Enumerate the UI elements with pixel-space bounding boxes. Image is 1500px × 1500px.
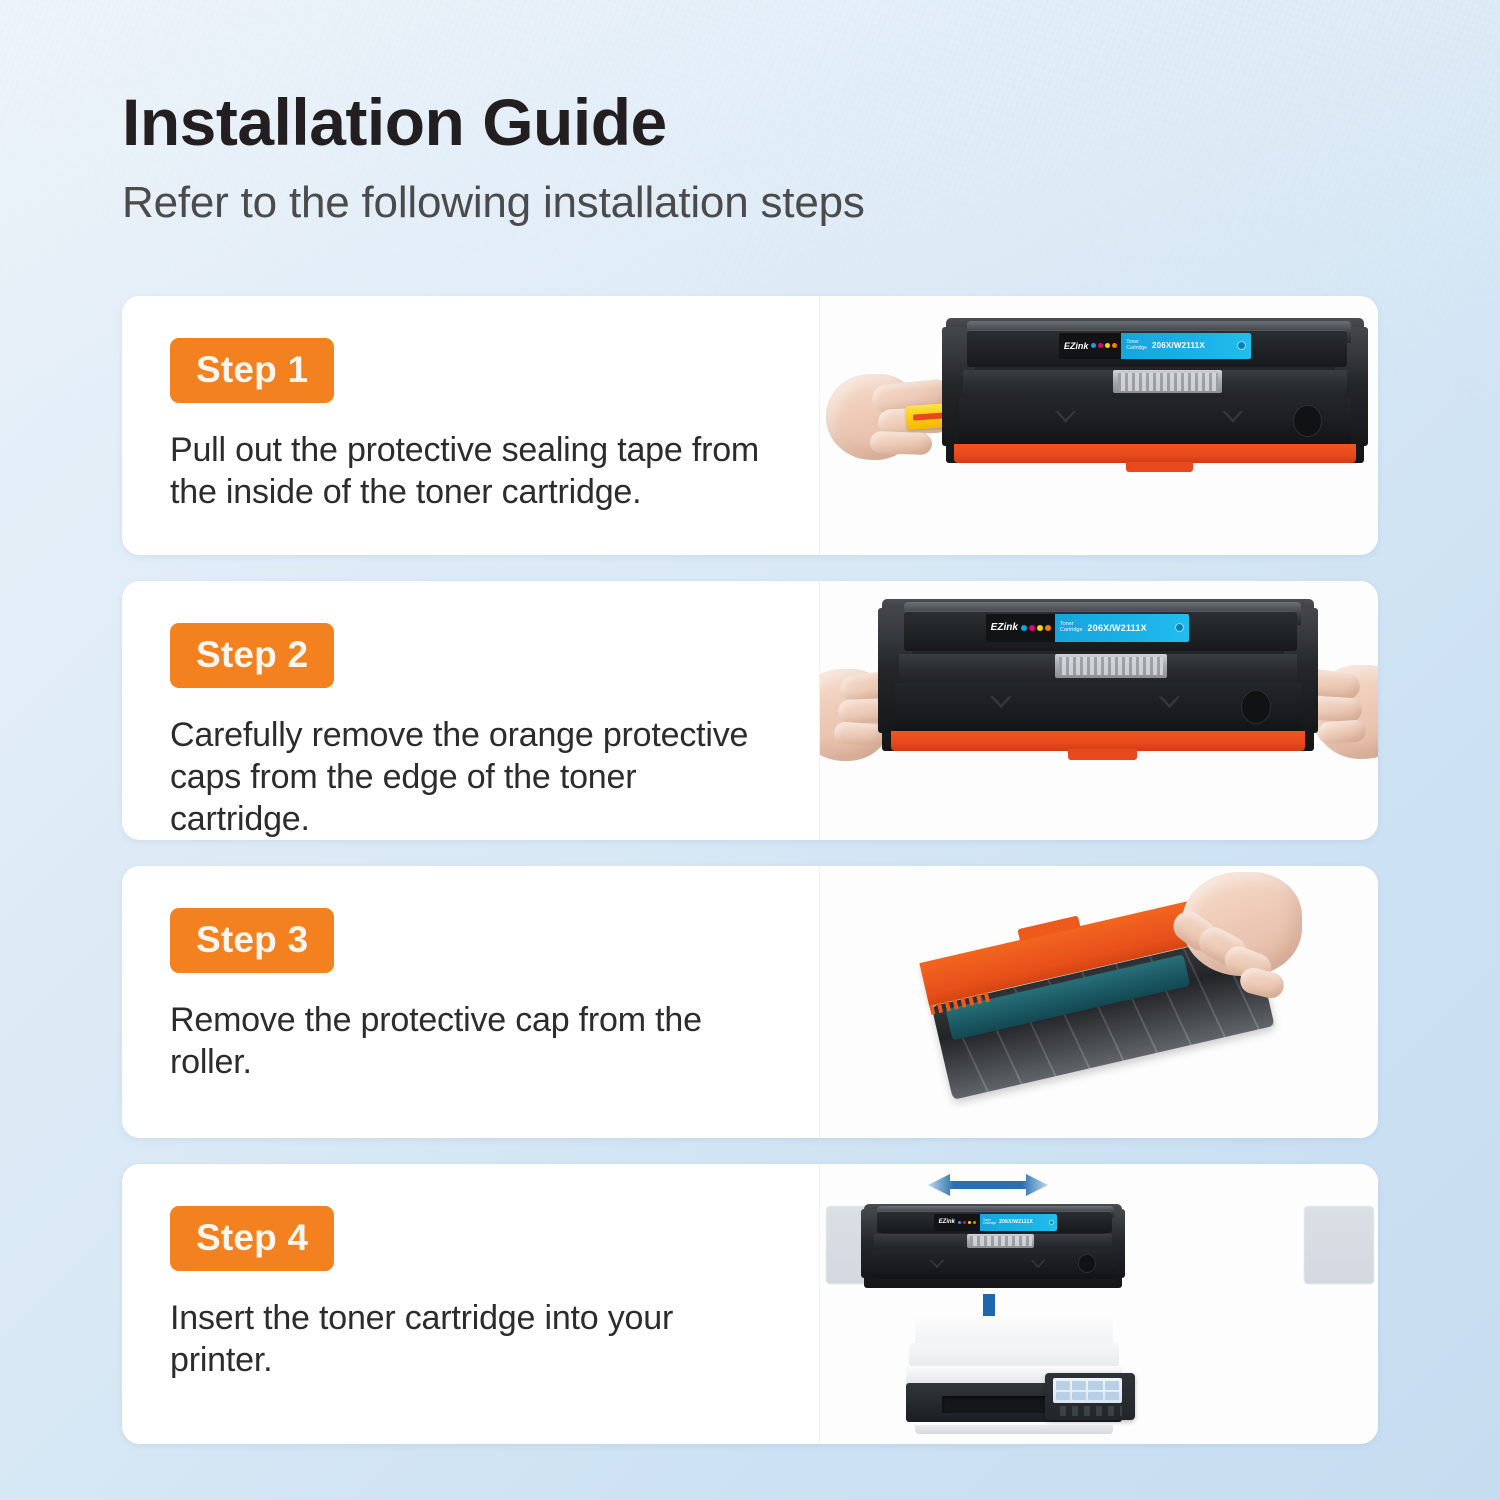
printer-illustration: [902, 1316, 1126, 1434]
step-1-illustration: EZink Toner: [819, 296, 1378, 555]
step-4-badge: Step 4: [170, 1206, 334, 1271]
finger-icon: [833, 721, 884, 746]
cmyk-dots-icon: [1021, 625, 1051, 631]
cartridge-model: 206X/W2111X: [1152, 341, 1205, 350]
step-2-description: Carefully remove the orange protective c…: [170, 714, 779, 840]
cmyk-dots-icon: [1091, 343, 1117, 348]
label-line-2: Cartridge: [983, 1221, 996, 1225]
page-title: Installation Guide: [122, 88, 1382, 157]
printer-keypad: [1054, 1406, 1122, 1416]
toner-cartridge: EZink Toner: [864, 1204, 1122, 1288]
step-3-badge: Step 3: [170, 908, 334, 973]
cartridge-model: 206X/W2111X: [999, 1219, 1033, 1225]
step-2-badge: Step 2: [170, 623, 334, 688]
step-1-text-panel: Step 1 Pull out the protective sealing t…: [122, 296, 819, 555]
finger-icon: [870, 431, 933, 455]
step-card-4: Step 4 Insert the toner cartridge into y…: [122, 1164, 1378, 1444]
cartridge-label: EZink Toner: [1059, 333, 1251, 359]
steps-list: Step 1 Pull out the protective sealing t…: [122, 296, 1378, 1470]
brand-name: EZink: [991, 622, 1018, 633]
step-card-2: Step 2 Carefully remove the orange prote…: [122, 581, 1378, 840]
cartridge-model: 206X/W2111X: [1088, 623, 1147, 633]
label-line-2: Cartridge: [1126, 345, 1147, 351]
step-3-description: Remove the protective cap from the rolle…: [170, 999, 779, 1083]
finger-icon: [1317, 719, 1366, 744]
step-4-text-panel: Step 4 Insert the toner cartridge into y…: [122, 1164, 819, 1444]
step-1-badge: Step 1: [170, 338, 334, 403]
page-subtitle: Refer to the following installation step…: [122, 179, 1382, 227]
horizontal-double-arrow-icon: [928, 1172, 1048, 1198]
label-line-2: Cartridge: [1060, 627, 1083, 633]
step-card-3: Step 3 Remove the protective cap from th…: [122, 866, 1378, 1138]
step-1-description: Pull out the protective sealing tape fro…: [170, 429, 779, 513]
cartridge-label: EZink Toner: [986, 614, 1189, 641]
printer-control-panel: [1045, 1373, 1135, 1420]
step-3-illustration: [819, 866, 1378, 1138]
step-3-text-panel: Step 3 Remove the protective cap from th…: [122, 866, 819, 1138]
cartridge-label: EZink Toner: [934, 1214, 1058, 1231]
cyan-color-dot-icon: [1175, 623, 1184, 632]
toner-cartridge: EZink Toner: [882, 599, 1314, 751]
brand-name: EZink: [939, 1219, 955, 1225]
installation-guide-page: Installation Guide Refer to the followin…: [0, 0, 1500, 1500]
cyan-color-dot-icon: [1237, 341, 1246, 350]
step-4-illustration: EZink Toner: [819, 1164, 1378, 1444]
brand-name: EZink: [1064, 341, 1089, 351]
cartridge-ghost-right: [1304, 1206, 1374, 1284]
page-header: Installation Guide Refer to the followin…: [122, 88, 1382, 228]
step-card-1: Step 1 Pull out the protective sealing t…: [122, 296, 1378, 555]
cyan-color-dot-icon: [1049, 1220, 1054, 1225]
cmyk-dots-icon: [958, 1221, 976, 1224]
step-2-text-panel: Step 2 Carefully remove the orange prote…: [122, 581, 819, 840]
step-4-description: Insert the toner cartridge into your pri…: [170, 1297, 779, 1381]
toner-cartridge: EZink Toner: [946, 318, 1364, 463]
printer-touchscreen: [1053, 1378, 1123, 1403]
step-2-illustration: EZink Toner: [819, 581, 1378, 840]
